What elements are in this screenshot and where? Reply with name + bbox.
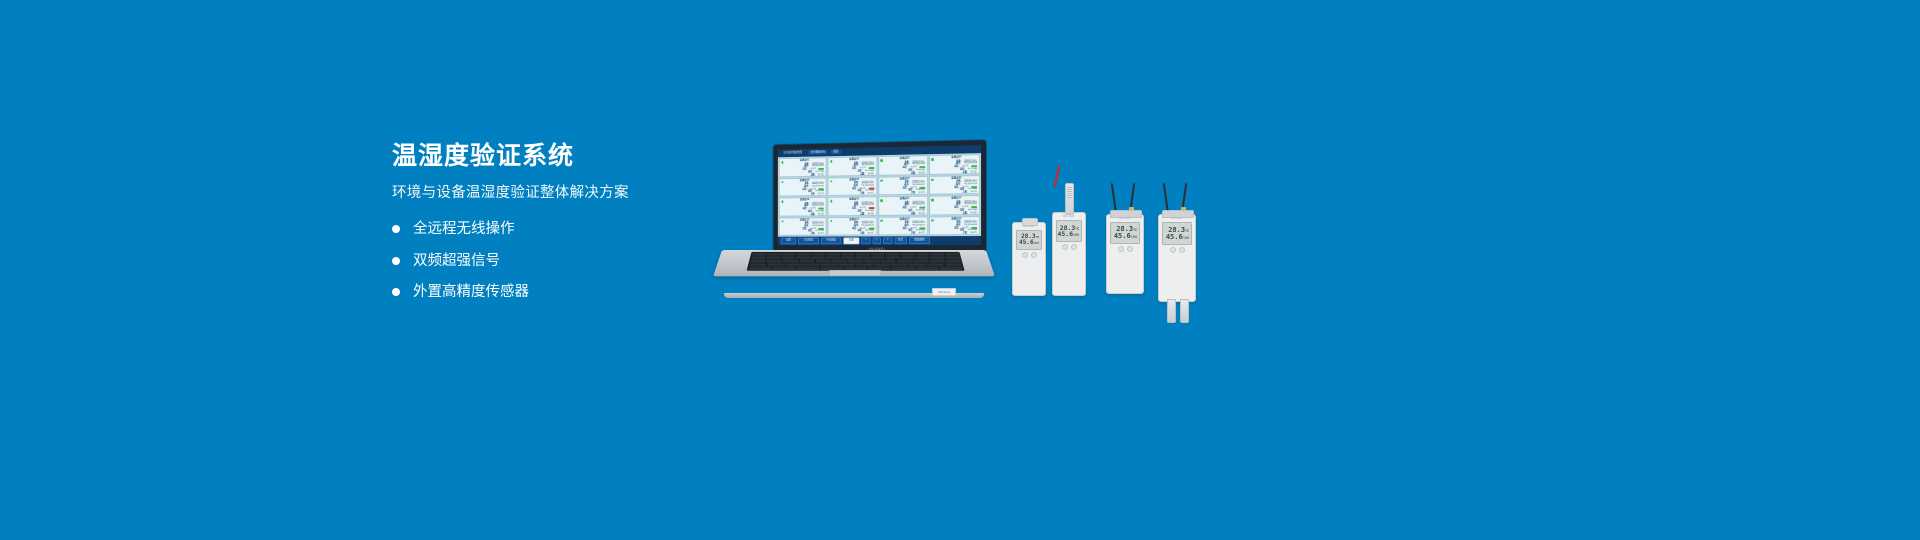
keyboard-key[interactable] [929, 260, 945, 263]
lcd-humidity: 45.6%RH [1166, 234, 1189, 241]
keyboard-key[interactable] [772, 267, 795, 270]
status-chip [818, 227, 824, 229]
monitor-card[interactable]: 监测点08设备：温湿度记录仪编号：TH-20240108温度：22.2℃湿度：5… [929, 175, 980, 195]
keyboard-key[interactable] [767, 260, 783, 263]
keyboard-key[interactable] [782, 253, 796, 256]
keyboard-key[interactable] [841, 256, 855, 259]
button-export-data[interactable]: 导出数据 [821, 238, 842, 244]
status-chip [971, 206, 977, 208]
device-cap [1162, 210, 1194, 218]
status-dot-icon [880, 219, 882, 221]
device-product-group: RC-4HC 28.3℃ 45.6%RH RC-4HC 28.3℃ 45.6%R… [1000, 178, 1230, 318]
device-lcd-display: 28.3℃ 45.6%RH [1016, 230, 1042, 250]
keyboard-key[interactable] [841, 253, 855, 256]
external-probe [1180, 299, 1189, 323]
monitor-card[interactable]: 监测点04设备：温湿度记录仪编号：TH-20240104温度：24.3℃湿度：4… [929, 154, 980, 174]
key-row [751, 256, 960, 259]
device-buttons[interactable] [1053, 244, 1085, 250]
keyboard-key[interactable] [848, 260, 863, 263]
keyboard-key[interactable] [796, 256, 810, 259]
device-button[interactable] [1127, 246, 1133, 252]
button-print-report[interactable]: 打印报表 [798, 238, 819, 244]
device-buttons[interactable] [1159, 247, 1195, 253]
keyboard-key[interactable] [811, 256, 825, 259]
laptop-deck [713, 250, 995, 276]
keyboard-key[interactable] [880, 260, 895, 263]
keyboard-key[interactable] [897, 260, 912, 263]
keyboard-key[interactable] [871, 253, 885, 256]
status-dot-icon [931, 178, 933, 181]
keyboard-key[interactable] [838, 263, 855, 266]
tab-alarm[interactable]: 报警 [831, 150, 841, 155]
status-dot-icon [880, 179, 882, 181]
laptop-base: Windows [718, 250, 990, 300]
keyboard-key[interactable] [945, 256, 959, 259]
status-dot-icon [781, 161, 783, 163]
monitor-card[interactable]: 监测点12设备：温湿度记录仪编号：TH-20240112温度：22.8℃湿度：4… [929, 195, 980, 215]
keyboard-key[interactable] [797, 253, 811, 256]
laptop-keyboard[interactable] [747, 252, 965, 271]
keyboard-key[interactable] [916, 267, 939, 270]
device-clip [1022, 218, 1038, 226]
device-button[interactable] [1118, 246, 1124, 252]
keyboard-key[interactable] [909, 263, 926, 266]
monitor-card-title: 监测点11 [884, 198, 925, 201]
key-row [749, 263, 961, 266]
key-row [750, 260, 961, 263]
keyboard-key[interactable] [750, 260, 766, 263]
keyboard-key[interactable] [856, 253, 870, 256]
keyboard-key[interactable] [783, 260, 798, 263]
status-dot-icon [830, 160, 832, 162]
keyboard-key[interactable] [748, 267, 771, 270]
monitor-card[interactable]: 监测点11设备：温湿度记录仪编号：TH-20240111温度：23.4℃湿度：5… [878, 196, 928, 216]
keyboard-key[interactable] [892, 263, 909, 266]
lcd-humidity: 45.6%RH [1057, 231, 1079, 238]
keyboard-key[interactable] [939, 267, 962, 270]
device-button[interactable] [1071, 244, 1077, 250]
keyboard-key[interactable] [781, 256, 795, 259]
keyboard-key[interactable] [766, 256, 780, 259]
status-dot-icon [830, 200, 832, 202]
banner-copy: 温湿度验证系统 环境与设备温湿度验证整体解决方案 全远程无线操作 双频超强信号 … [392, 142, 722, 317]
hero-banner: 温湿度验证系统 环境与设备温湿度验证整体解决方案 全远程无线操作 双频超强信号 … [0, 0, 1920, 540]
keyboard-key[interactable] [900, 253, 914, 256]
keyboard-key[interactable] [945, 263, 962, 266]
monitor-card[interactable]: 监测点09设备：温湿度记录仪编号：TH-20240109温度：20.9℃湿度：5… [779, 197, 827, 216]
device-wireless-logger: RC-4HC 28.3℃ 45.6%RH [1012, 222, 1046, 296]
keyboard-key[interactable] [856, 256, 870, 259]
tab-realtime[interactable]: 实时监控数据管理 [781, 151, 805, 156]
device-brand-label: RC-4HC [1053, 215, 1085, 218]
button-data-curve[interactable]: 数据曲线 [909, 237, 931, 244]
monitor-card-title: 监测点15 [884, 218, 925, 221]
keyboard-key[interactable] [886, 256, 900, 259]
device-button[interactable] [1022, 252, 1028, 258]
page-title: 温湿度验证系统 [392, 142, 722, 171]
keyboard-key[interactable] [767, 263, 784, 266]
device-red-wire [1054, 165, 1061, 187]
pager-first[interactable]: 首页 [843, 238, 859, 244]
feature-label: 外置高精度传感器 [413, 285, 529, 300]
keyboard-key[interactable] [871, 256, 885, 259]
device-buttons[interactable] [1107, 246, 1143, 252]
keyboard-key[interactable] [785, 263, 802, 266]
monitor-card[interactable]: 监测点13设备：温湿度记录仪编号：TH-20240113温度：21.5℃湿度：5… [779, 217, 827, 236]
bullet-icon [392, 225, 400, 233]
keyboard-key[interactable] [815, 260, 830, 263]
monitor-card-title: 监测点13 [785, 219, 824, 222]
keyboard-key[interactable] [915, 253, 929, 256]
status-dot-icon [880, 159, 882, 161]
device-cap [1110, 210, 1142, 218]
device-external-sensor-transmitter: RC-4HC 28.3℃ 45.6%RH [1158, 214, 1196, 302]
keyboard-key[interactable] [796, 267, 819, 270]
device-lcd-display: 28.3℃ 45.6%RH [1110, 222, 1140, 244]
feature-label: 全远程无线操作 [413, 222, 515, 237]
monitor-card[interactable]: 监测点15设备：温湿度记录仪编号：TH-20240115温度：22.9℃湿度：4… [878, 216, 928, 235]
pager-prev[interactable]: < [861, 238, 870, 244]
status-chip [868, 227, 874, 229]
status-chip [919, 207, 925, 209]
keyboard-key[interactable] [931, 256, 945, 259]
device-probe-logger: RC-4HC 28.3℃ 45.6%RH [1052, 212, 1086, 296]
device-buttons[interactable] [1013, 252, 1045, 258]
monitor-card-title: 监测点09 [785, 199, 824, 202]
monitor-card-title: 监测点14 [834, 218, 874, 221]
keyboard-key[interactable] [945, 260, 961, 263]
keyboard-key[interactable] [856, 263, 873, 266]
pager-page-1[interactable]: 1 [872, 238, 881, 244]
keyboard-key[interactable] [901, 256, 915, 259]
button-settings[interactable]: 设置 [781, 238, 797, 244]
device-button[interactable] [1062, 244, 1068, 250]
keyboard-key[interactable] [892, 267, 915, 270]
monitor-card[interactable]: 监测点02设备：温湿度记录仪编号：TH-20240102温度：23.1℃湿度：4… [828, 156, 877, 176]
keyboard-key[interactable] [913, 260, 928, 263]
status-dot-icon [781, 220, 783, 222]
monitor-card-title: 监测点10 [834, 198, 874, 201]
status-dot-icon [830, 180, 832, 182]
monitor-card[interactable]: 监测点16设备：温湿度记录仪编号：TH-20240116温度：23.3℃湿度：5… [929, 216, 980, 236]
feature-item-2: 双频超强信号 [392, 254, 722, 269]
monitor-card-title: 监测点16 [936, 218, 977, 221]
monitor-card-grid: 监测点01设备：温湿度记录仪编号：TH-20240101温度：22.6℃湿度：5… [778, 153, 981, 237]
status-dot-icon [931, 199, 933, 201]
feature-label: 双频超强信号 [413, 254, 500, 269]
monitor-card[interactable]: 监测点01设备：温湿度记录仪编号：TH-20240101温度：22.6℃湿度：5… [779, 157, 827, 177]
laptop-lid: 实时监控数据管理 历史数据查询 报警 监测点01设备：温湿度记录仪编号：TH-2… [773, 140, 986, 253]
feature-item-3: 外置高精度传感器 [392, 285, 722, 300]
status-dot-icon [931, 158, 933, 161]
keyboard-key[interactable] [821, 263, 838, 266]
keyboard-key[interactable] [749, 263, 766, 266]
device-lcd-display: 28.3℃ 45.6%RH [1162, 222, 1192, 245]
keyboard-key[interactable] [803, 263, 820, 266]
monitor-card[interactable]: 监测点07设备：温湿度记录仪编号：TH-20240107温度：23.7℃湿度：4… [878, 175, 928, 195]
keyboard-key[interactable] [826, 253, 840, 256]
laptop-sticker: Windows [932, 288, 956, 296]
status-dot-icon [931, 219, 933, 221]
status-dot-icon [781, 181, 783, 183]
monitor-card[interactable]: 监测点10设备：温湿度记录仪编号：TH-20240110温度：33.2℃湿度：4… [828, 196, 877, 215]
keyboard-key[interactable] [826, 256, 840, 259]
keyboard-key[interactable] [927, 263, 944, 266]
pager-next[interactable]: > [883, 238, 892, 244]
feature-item-1: 全远程无线操作 [392, 222, 722, 237]
keyboard-key[interactable] [767, 253, 781, 256]
device-lcd-display: 28.3℃ 45.6%RH [1056, 220, 1082, 242]
external-probe [1167, 299, 1176, 323]
keyboard-key[interactable] [812, 253, 826, 256]
device-button[interactable] [1179, 247, 1185, 253]
device-sensor-probe [1065, 183, 1074, 215]
status-dot-icon [830, 220, 832, 222]
monitor-card[interactable]: 监测点05设备：温湿度记录仪编号：TH-20240105温度：22.0℃湿度：5… [779, 177, 827, 196]
pager-last[interactable]: 末页 [894, 237, 907, 244]
app-bottombar: 设置 打印报表 导出数据 首页 < 1 > 末页 数据曲线 [778, 236, 981, 245]
status-dot-icon [880, 199, 882, 201]
monitor-card[interactable]: 监测点14设备：温湿度记录仪编号：TH-20240114温度：24.0℃湿度：4… [828, 216, 877, 235]
keyboard-key[interactable] [751, 256, 765, 259]
monitor-card[interactable]: 监测点06设备：温湿度记录仪编号：TH-20240106温度：31.5℃湿度：4… [828, 176, 877, 196]
status-dot-icon [781, 200, 783, 202]
bullet-icon [392, 288, 400, 296]
keyboard-key[interactable] [864, 260, 879, 263]
keyboard-key[interactable] [945, 253, 959, 256]
keyboard-key[interactable] [832, 260, 847, 263]
lcd-humidity: 45.6%RH [1019, 240, 1039, 246]
monitor-card[interactable]: 监测点03设备：温湿度记录仪编号：TH-20240103温度：21.8℃湿度：5… [878, 155, 928, 175]
keyboard-key[interactable] [916, 256, 930, 259]
laptop-product-image: 实时监控数据管理 历史数据查询 报警 监测点01设备：温湿度记录仪编号：TH-2… [718, 140, 990, 300]
laptop-screen: 实时监控数据管理 历史数据查询 报警 监测点01设备：温湿度记录仪编号：TH-2… [778, 145, 981, 245]
device-button[interactable] [1170, 247, 1176, 253]
status-chip [971, 227, 977, 229]
laptop-trackpad[interactable] [828, 270, 881, 276]
status-chip [919, 227, 925, 229]
feature-list: 全远程无线操作 双频超强信号 外置高精度传感器 [392, 222, 722, 300]
monitor-card-title: 监测点12 [936, 197, 977, 200]
tab-history[interactable]: 历史数据查询 [808, 150, 828, 155]
keyboard-key[interactable] [752, 253, 766, 256]
keyboard-key[interactable] [874, 263, 891, 266]
lcd-humidity: 45.6%RH [1114, 233, 1137, 240]
bullet-icon [392, 257, 400, 265]
page-subtitle: 环境与设备温湿度验证整体解决方案 [392, 185, 722, 202]
keyboard-key[interactable] [886, 253, 900, 256]
keyboard-key[interactable] [799, 260, 814, 263]
device-dual-band-transmitter: RC-4HC 28.3℃ 45.6%RH [1106, 214, 1144, 294]
keyboard-key[interactable] [930, 253, 944, 256]
device-button[interactable] [1031, 252, 1037, 258]
key-row [752, 253, 959, 256]
